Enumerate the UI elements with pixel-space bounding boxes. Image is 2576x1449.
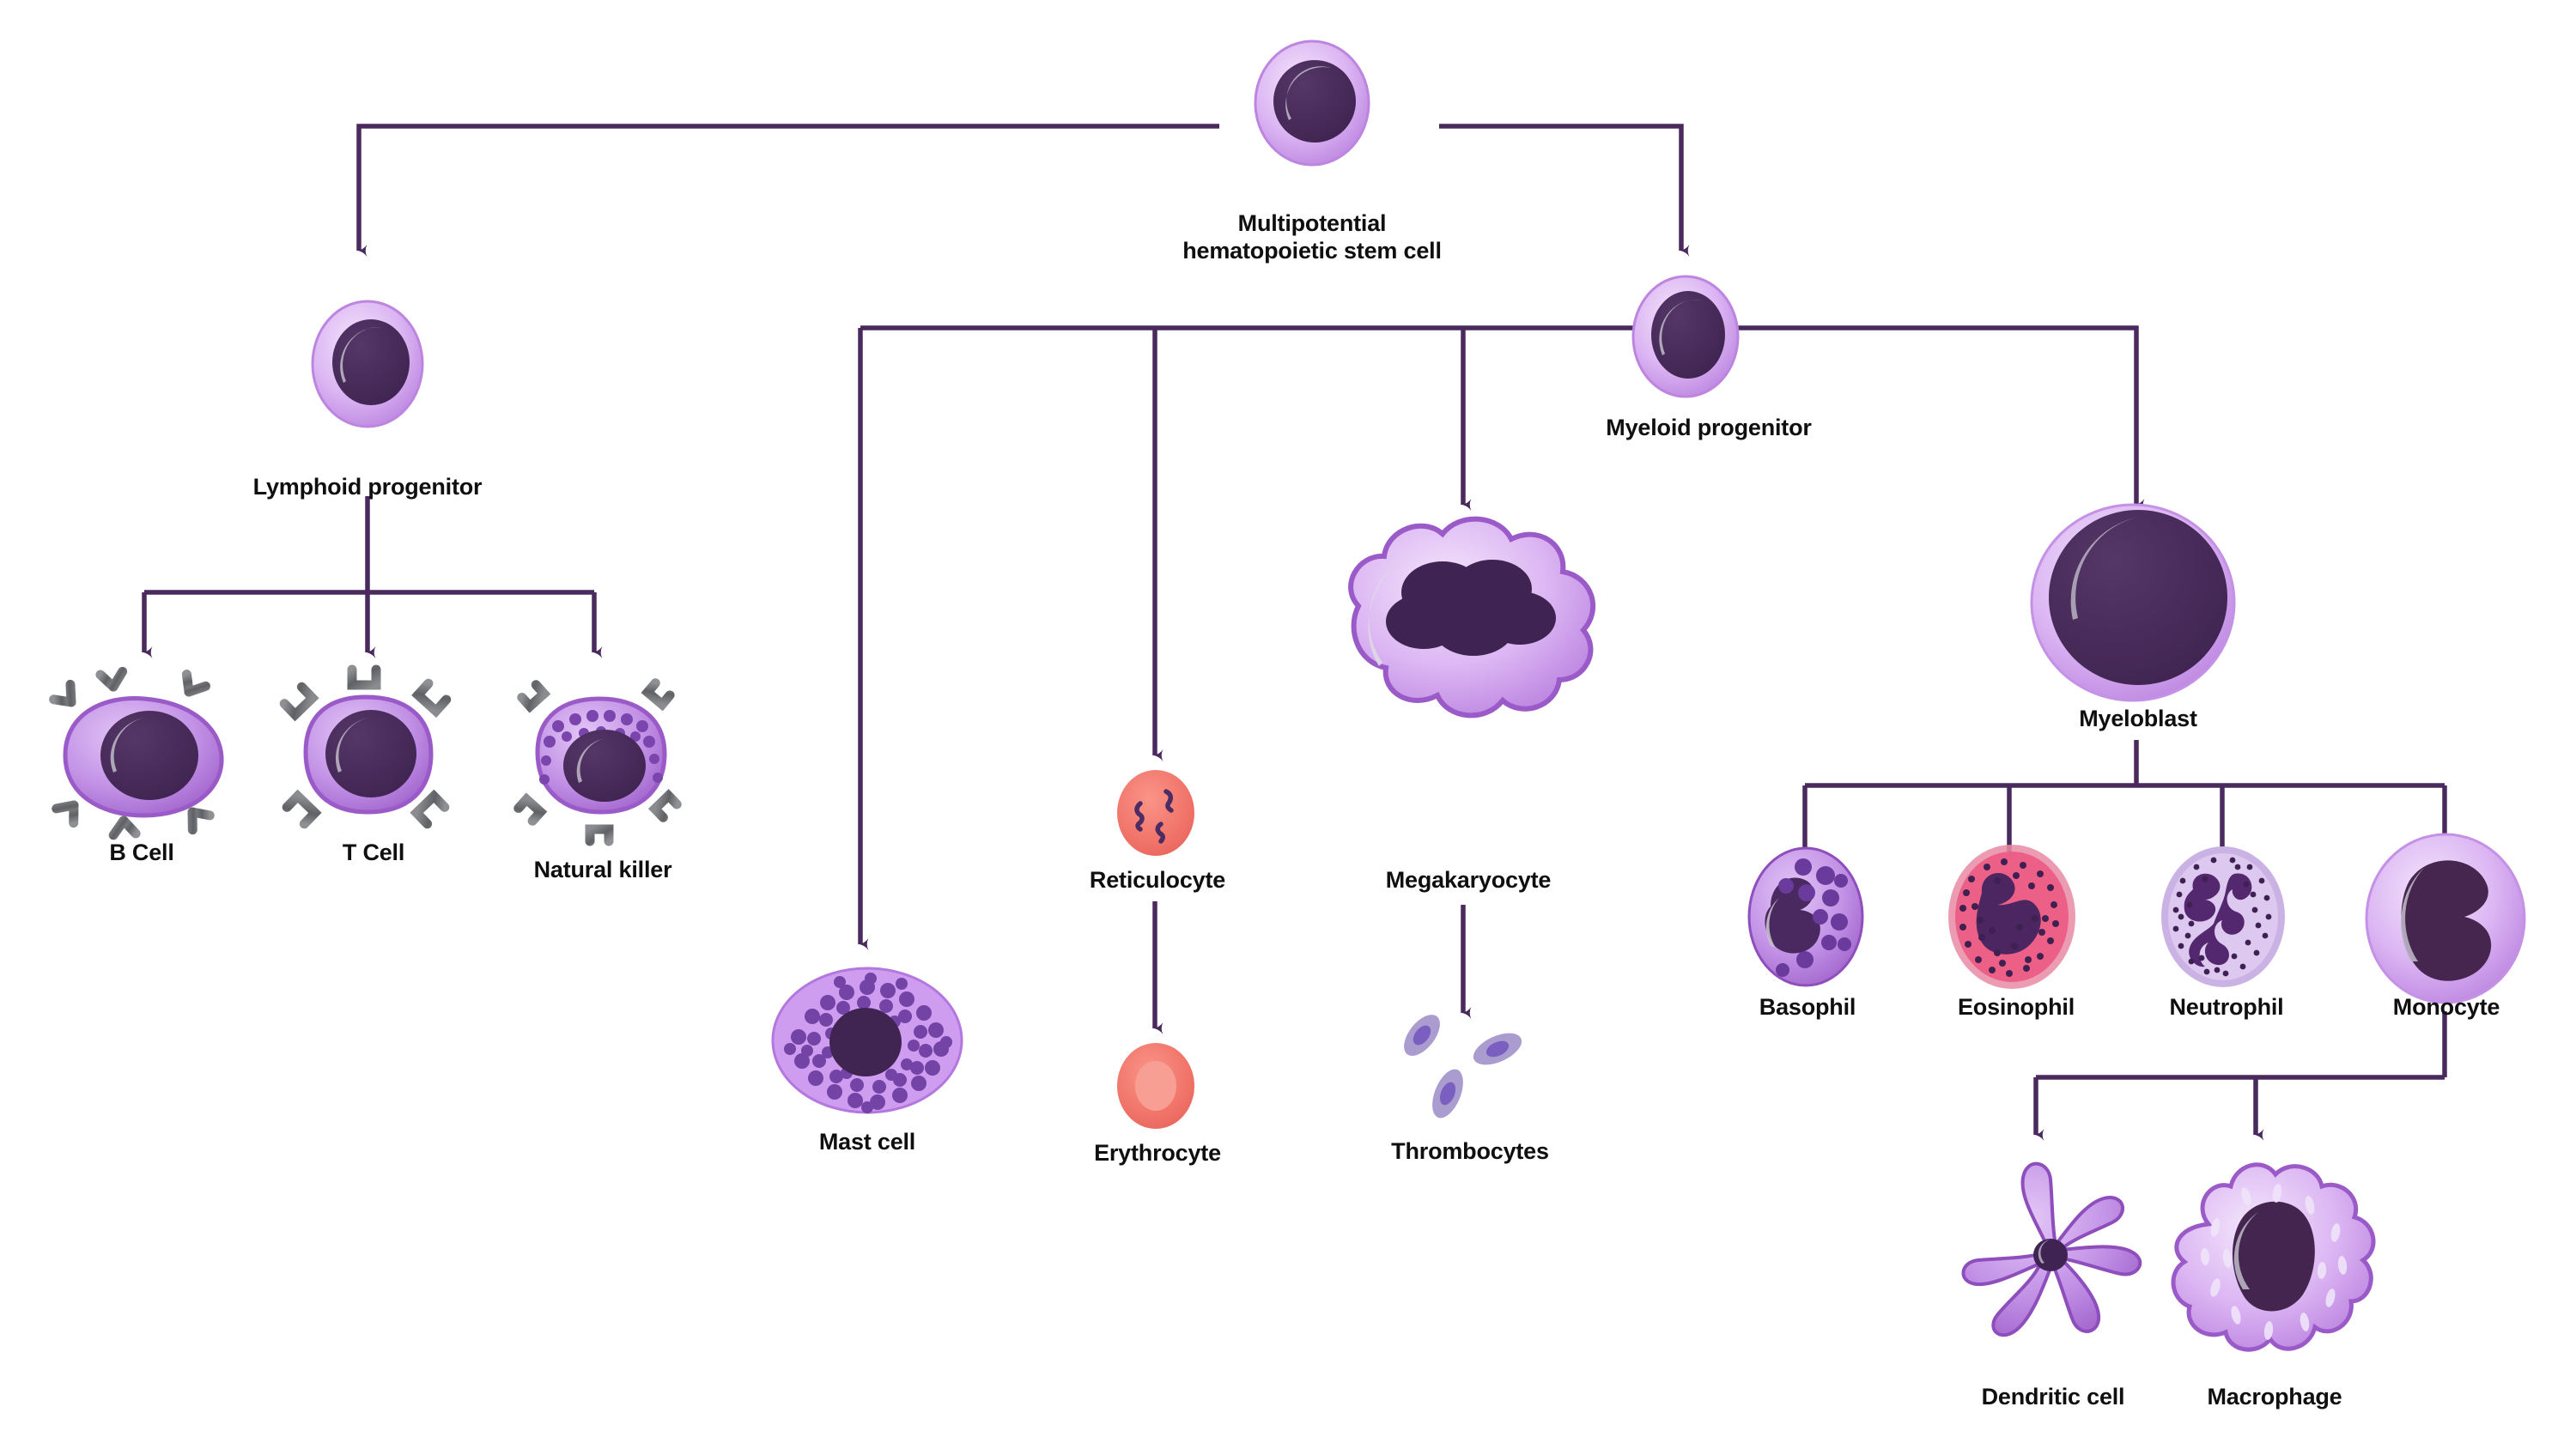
label-neutrophil: Neutrophil	[2140, 994, 2313, 1022]
erythrocyte-icon	[1109, 1039, 1202, 1135]
b-cell-icon	[24, 661, 264, 850]
label-myeloid-progenitor: Myeloid progenitor	[1563, 415, 1855, 442]
label-reticulocyte: Reticulocyte	[1065, 867, 1250, 894]
node-myeloid-progenitor[interactable]	[1604, 258, 1767, 425]
myeloid-progenitor-icon	[1604, 258, 1767, 421]
label-thrombocytes: Thrombocytes	[1360, 1138, 1580, 1166]
label-macrophage: Macrophage	[2164, 1384, 2385, 1411]
megakaryocyte-icon	[1309, 496, 1635, 754]
label-eosinophil: Eosinophil	[1930, 994, 2102, 1022]
label-basophil: Basophil	[1735, 994, 1880, 1022]
node-reticulocyte[interactable]	[1109, 766, 1202, 866]
node-lymphoid-progenitor[interactable]	[283, 282, 452, 454]
node-macrophage[interactable]	[2154, 1145, 2385, 1381]
label-mast-cell: Mast cell	[781, 1129, 953, 1156]
node-neutrophil[interactable]	[2152, 841, 2294, 997]
node-hsc[interactable]	[1226, 19, 1398, 195]
thrombocytes-icon	[1391, 1009, 1546, 1130]
eosinophil-icon	[1941, 841, 2083, 992]
dendritic-cell-icon	[1946, 1150, 2160, 1365]
neutrophil-icon	[2152, 841, 2294, 992]
t-cell-icon	[256, 659, 488, 850]
label-erythrocyte: Erythrocyte	[1065, 1140, 1250, 1167]
basophil-icon	[1741, 843, 1870, 989]
node-myeloblast[interactable]	[2025, 498, 2241, 712]
label-myeloblast: Myeloblast	[2033, 706, 2243, 733]
mast-cell-icon	[764, 960, 970, 1123]
node-eosinophil[interactable]	[1941, 841, 2083, 997]
reticulocyte-icon	[1109, 766, 1202, 862]
lymphoid-progenitor-icon	[283, 282, 452, 450]
node-mast-cell[interactable]	[764, 960, 970, 1127]
node-megakaryocyte[interactable]	[1309, 496, 1635, 758]
node-t-cell[interactable]	[256, 659, 488, 854]
node-thrombocytes[interactable]	[1391, 1009, 1546, 1134]
label-b-cell: B Cell	[60, 840, 223, 867]
label-t-cell: T Cell	[292, 840, 455, 867]
stem-cell-icon	[1226, 19, 1398, 191]
node-erythrocyte[interactable]	[1109, 1039, 1202, 1139]
label-megakaryocyte: Megakaryocyte	[1340, 867, 1597, 894]
node-b-cell[interactable]	[24, 661, 264, 854]
label-natural-killer: Natural killer	[500, 857, 706, 884]
natural-killer-cell-icon	[495, 659, 709, 850]
label-lymphoid-progenitor: Lymphoid progenitor	[213, 474, 522, 501]
myeloblast-icon	[2025, 498, 2241, 707]
monocyte-icon	[2361, 831, 2530, 1008]
node-monocyte[interactable]	[2361, 831, 2530, 1012]
hematopoiesis-diagram: Multipotential hematopoietic stem cell L…	[0, 0, 2576, 1449]
label-monocyte: Monocyte	[2366, 994, 2526, 1022]
label-dendritic-cell: Dendritic cell	[1932, 1384, 2174, 1411]
node-natural-killer[interactable]	[495, 659, 709, 854]
node-basophil[interactable]	[1741, 843, 1870, 993]
node-dendritic-cell[interactable]	[1946, 1150, 2160, 1369]
macrophage-icon	[2154, 1145, 2385, 1377]
label-hsc: Multipotential hematopoietic stem cell	[1175, 210, 1449, 265]
